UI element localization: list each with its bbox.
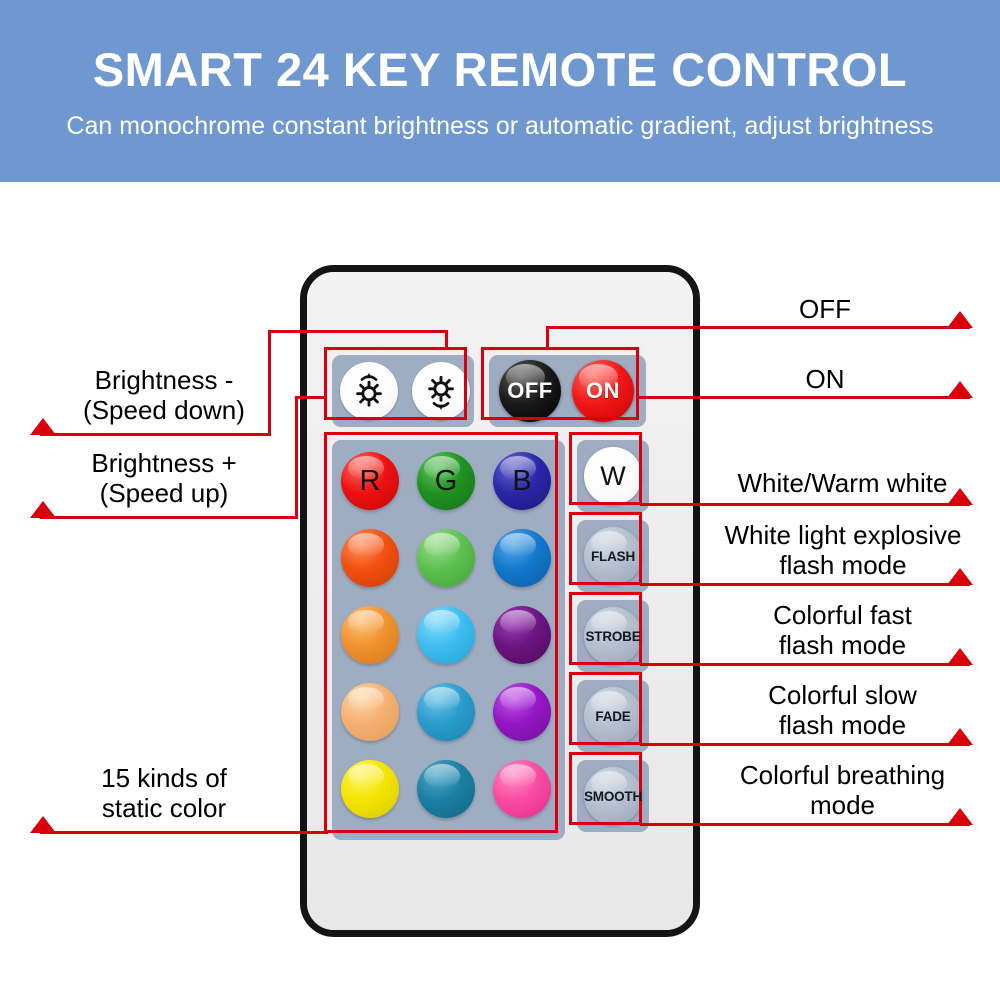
leader-brightness-down-h1 <box>268 330 448 333</box>
leader-strobe-h <box>640 663 970 666</box>
leader-brightness-down-h2 <box>40 433 271 436</box>
callout-fade: Colorful slow flash mode <box>700 680 985 740</box>
callout-brightness-up: Brightness + (Speed up) <box>44 448 284 508</box>
leader-off-v <box>546 326 549 350</box>
highlight-brightness-group <box>324 347 467 420</box>
fade-button-label: FADE <box>595 709 630 724</box>
white-button-label: W <box>600 461 625 492</box>
header-banner: SMART 24 KEY REMOTE CONTROL Can monochro… <box>0 0 1000 182</box>
callout-strobe: Colorful fast flash mode <box>700 600 985 660</box>
infographic-canvas: SMART 24 KEY REMOTE CONTROL Can monochro… <box>0 0 1000 1000</box>
leader-smooth-h <box>640 823 970 826</box>
callout-static-color: 15 kinds of static color <box>44 763 284 823</box>
leader-brightness-up-h1 <box>295 396 327 399</box>
callout-smooth: Colorful breathing mode <box>700 760 985 820</box>
arrow-on <box>947 381 973 398</box>
smooth-button-label: SMOOTH <box>584 789 642 804</box>
on-button-label: ON <box>586 378 620 404</box>
leader-static-color-h <box>40 831 328 834</box>
color-key-label: G <box>435 465 458 498</box>
callout-brightness-down: Brightness - (Speed down) <box>44 365 284 425</box>
leader-fade-h <box>640 743 970 746</box>
leader-off-h <box>546 326 970 329</box>
leader-white-h <box>640 503 970 506</box>
off-button-label: OFF <box>507 378 553 404</box>
leader-brightness-down-v1 <box>445 330 448 350</box>
color-key-label: R <box>360 465 381 498</box>
color-key-label: B <box>512 465 531 498</box>
leader-flash-h <box>640 583 970 586</box>
page-title: SMART 24 KEY REMOTE CONTROL <box>0 42 1000 97</box>
callout-flash: White light explosive flash mode <box>694 520 992 580</box>
leader-brightness-up-h2 <box>40 516 298 519</box>
flash-button-label: FLASH <box>591 549 635 564</box>
arrow-off <box>947 311 973 328</box>
strobe-button-label: STROBE <box>585 629 640 644</box>
callout-on: ON <box>700 364 950 394</box>
leader-brightness-up-v1 <box>295 396 298 519</box>
callout-off: OFF <box>700 294 950 324</box>
leader-on-h <box>637 396 970 399</box>
callout-white-warm-white: White/Warm white <box>700 468 985 498</box>
page-subtitle: Can monochrome constant brightness or au… <box>0 112 1000 141</box>
